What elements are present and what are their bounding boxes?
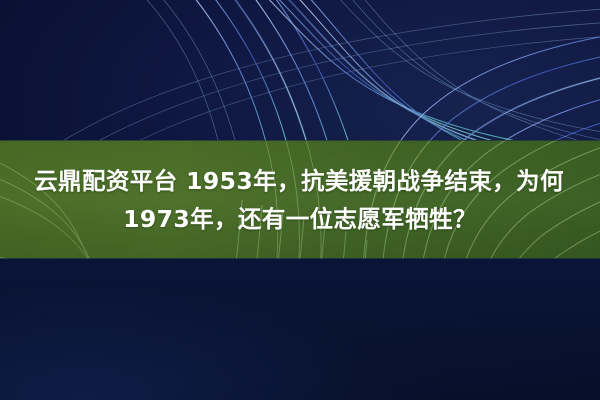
headline-block: 云鼎配资平台 1953年，抗美援朝战争结束，为何 1973年，还有一位志愿军牺牲… [0,140,600,259]
headline-line-2: 1973年，还有一位志愿军牺牲？ [123,200,477,238]
green-headline-banner: 云鼎配资平台 1953年，抗美援朝战争结束，为何 1973年，还有一位志愿军牺牲… [0,140,600,259]
lower-dark-region [0,259,600,400]
lower-vignette [0,259,600,400]
headline-line-1: 云鼎配资平台 1953年，抗美援朝战争结束，为何 [34,162,564,200]
banner-image: 云鼎配资平台 1953年，抗美援朝战争结束，为何 1973年，还有一位志愿军牺牲… [0,0,600,400]
